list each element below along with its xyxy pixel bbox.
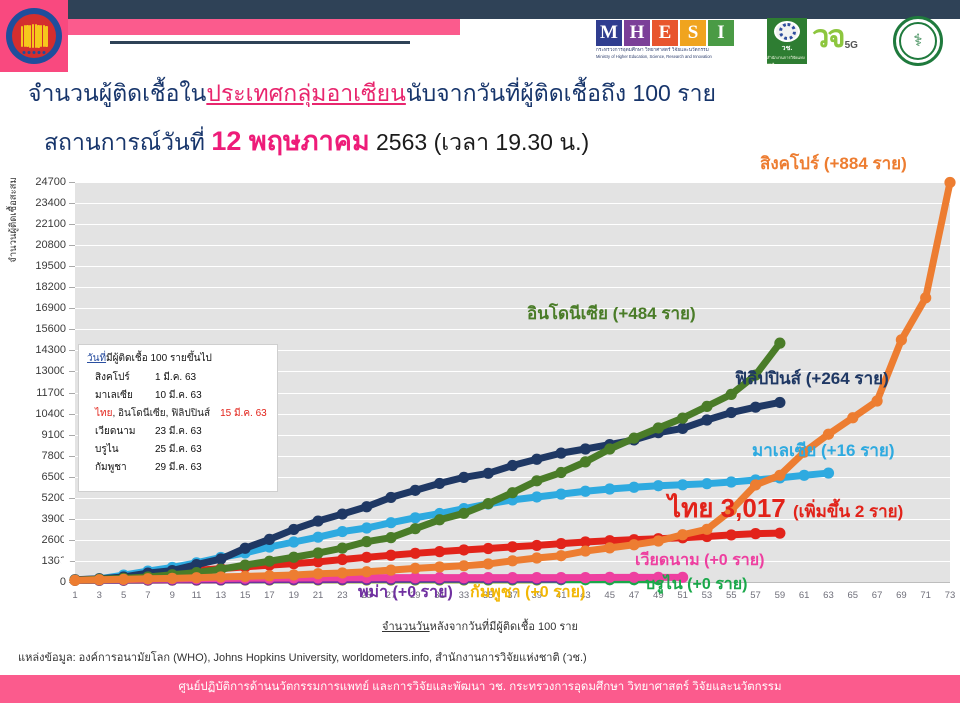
gridline xyxy=(75,266,950,267)
mhesi-subtitle-th: กระทรวงการอุดมศึกษา วิทยาศาสตร์ วิจัยและ… xyxy=(596,47,734,54)
title-part-a: จำนวนผู้ติดเชื้อใน xyxy=(28,80,206,106)
x-tick-label: 23 xyxy=(337,590,348,601)
vijai-5g-badge: 5G xyxy=(845,40,858,51)
series-label-singapore: สิงคโปร์ (+884 ราย) xyxy=(760,150,907,177)
gridline xyxy=(75,540,950,541)
y-tick-label: 1300 xyxy=(0,555,66,567)
legend-country: กัมพูชา xyxy=(87,460,155,475)
title-highlight: ประเทศกลุ่มอาเซียน xyxy=(206,80,406,106)
x-tick-label: 73 xyxy=(945,590,956,601)
legend-row: เวียดนาม23 มี.ค. 63 xyxy=(87,424,269,439)
y-tick-mark xyxy=(69,393,75,394)
y-tick-mark xyxy=(69,287,75,288)
x-tick-label: 9 xyxy=(170,590,175,601)
x-tick-label: 7 xyxy=(145,590,150,601)
x-axis-title-underlined: จำนวนวัน xyxy=(382,621,430,633)
y-tick-label: 0 xyxy=(0,576,66,588)
legend-row: ไทย, อินโดนีเซีย, ฟิลิปปินส์15 มี.ค. 63 xyxy=(87,406,269,421)
x-axis-title: จำนวนวันหลังจากวันที่มีผู้ติดเชื้อ 100 ร… xyxy=(0,617,960,635)
nrct-label: วช. xyxy=(782,43,793,54)
gridline xyxy=(75,287,950,288)
header-pink-bar xyxy=(68,19,460,35)
x-tick-label: 21 xyxy=(313,590,324,601)
x-tick-label: 69 xyxy=(896,590,907,601)
y-tick-mark xyxy=(69,266,75,267)
subtitle-time: (เวลา 19.30 น.) xyxy=(434,129,590,155)
x-tick-label: 71 xyxy=(920,590,931,601)
gridline xyxy=(75,203,950,204)
x-tick-label: 1 xyxy=(72,590,77,601)
legend-date: 1 มี.ค. 63 xyxy=(155,370,196,385)
x-tick-label: 13 xyxy=(216,590,227,601)
gridline xyxy=(75,245,950,246)
y-tick-label: 10400 xyxy=(0,408,66,420)
gridline xyxy=(75,561,950,562)
mhesi-letter-s: S xyxy=(680,20,706,46)
series-label-cambodia: กัมพูชา (+0 ราย) xyxy=(470,580,585,605)
asean-emblem-icon xyxy=(6,8,62,64)
subtitle-date: 12 พฤษภาคม xyxy=(211,126,369,156)
y-tick-mark xyxy=(69,582,75,583)
legend-country: บรูไน xyxy=(87,442,155,457)
y-tick-label: 16900 xyxy=(0,302,66,314)
subtitle-year: 2563 xyxy=(370,129,434,155)
y-tick-label: 15600 xyxy=(0,323,66,335)
x-tick-label: 15 xyxy=(240,590,251,601)
y-tick-mark xyxy=(69,224,75,225)
x-tick-label: 3 xyxy=(97,590,102,601)
y-tick-label: 11700 xyxy=(0,387,66,399)
x-tick-label: 61 xyxy=(799,590,810,601)
nrct-sublabel: สำนักงานการวิจัยแห่งชาติ xyxy=(767,54,807,68)
y-tick-mark xyxy=(69,203,75,204)
y-axis-title: จำนวนผู้ติดเชื้อสะสม xyxy=(6,140,21,300)
legend-country: สิงคโปร์ xyxy=(87,370,155,385)
annotation-arrow-head xyxy=(58,558,72,570)
source-note: แหล่งข้อมูล: องค์การอนามัยโลก (WHO), Joh… xyxy=(18,648,587,666)
x-tick-label: 19 xyxy=(288,590,299,601)
y-tick-mark xyxy=(69,371,75,372)
y-tick-label: 7800 xyxy=(0,450,66,462)
x-tick-label: 47 xyxy=(629,590,640,601)
legend-country: ไทย, อินโดนีเซีย, ฟิลิปปินส์ xyxy=(87,406,220,421)
y-tick-label: 14300 xyxy=(0,344,66,356)
vijai-5g-logo: วจ 5G xyxy=(812,22,858,52)
slide-root: MHESI กระทรวงการอุดมศึกษา วิทยาศาสตร์ วิ… xyxy=(0,0,960,703)
legend-row: สิงคโปร์1 มี.ค. 63 xyxy=(87,370,269,385)
x-tick-label: 45 xyxy=(604,590,615,601)
y-tick-mark xyxy=(69,498,75,499)
legend-country: มาเลเซีย xyxy=(87,388,155,403)
gridline xyxy=(75,329,950,330)
y-tick-mark xyxy=(69,350,75,351)
vijai-glyph: วจ xyxy=(812,22,844,52)
y-tick-mark xyxy=(69,519,75,520)
x-tick-label: 5 xyxy=(121,590,126,601)
y-tick-mark xyxy=(69,308,75,309)
legend-date: 15 มี.ค. 63 xyxy=(220,406,267,421)
mhesi-logo: MHESI กระทรวงการอุดมศึกษา วิทยาศาสตร์ วิ… xyxy=(596,20,734,59)
x-tick-label: 63 xyxy=(823,590,834,601)
legend-row: กัมพูชา29 มี.ค. 63 xyxy=(87,460,269,475)
y-tick-mark xyxy=(69,540,75,541)
mhesi-letter-h: H xyxy=(624,20,650,46)
header-navy-band xyxy=(0,0,960,19)
y-tick-mark xyxy=(69,456,75,457)
x-tick-label: 17 xyxy=(264,590,275,601)
legend-row: มาเลเซีย10 มี.ค. 63 xyxy=(87,388,269,403)
x-tick-label: 11 xyxy=(192,590,202,601)
legend-date: 29 มี.ค. 63 xyxy=(155,460,202,475)
moph-caduceus-icon: ⚕ xyxy=(899,22,937,60)
series-label-indonesia: อินโดนีเซีย (+484 ราย) xyxy=(527,300,696,327)
y-tick-mark xyxy=(69,245,75,246)
thailand-delta: (เพิ่มขึ้น 2 ราย) xyxy=(793,502,903,521)
gridline xyxy=(75,224,950,225)
header-navy-rule xyxy=(110,41,410,44)
moph-logo: ⚕ xyxy=(893,16,943,66)
x-tick-label: 33 xyxy=(459,590,470,601)
x-tick-label: 57 xyxy=(750,590,761,601)
threshold-date-legend: วันที่มีผู้ติดเชื้อ 100 รายขึ้นไป สิงคโป… xyxy=(78,344,278,492)
mhesi-letter-e: E xyxy=(652,20,678,46)
legend-date: 25 มี.ค. 63 xyxy=(155,442,202,457)
y-tick-label: 5200 xyxy=(0,492,66,504)
mhesi-subtitle-en: Ministry of Higher Education, Science, R… xyxy=(596,54,734,59)
legend-heading-rest: มีผู้ติดเชื้อ 100 รายขึ้นไป xyxy=(106,353,212,364)
legend-date: 10 มี.ค. 63 xyxy=(155,388,202,403)
y-tick-label: 13000 xyxy=(0,365,66,377)
legend-heading-underlined: วันที่ xyxy=(87,353,106,364)
x-tick-label: 67 xyxy=(872,590,883,601)
nrct-logo: วช. สำนักงานการวิจัยแห่งชาติ xyxy=(767,18,807,64)
y-tick-mark xyxy=(69,414,75,415)
title-part-b: นับจากวันที่ผู้ติดเชื้อถึง 100 ราย xyxy=(406,80,716,106)
mhesi-letter-i: I xyxy=(708,20,734,46)
y-tick-mark xyxy=(69,182,75,183)
series-label-myanmar: พม่า (+0 ราย) xyxy=(358,580,453,605)
series-label-vietnam: เวียดนาม (+0 ราย) xyxy=(635,548,764,573)
mhesi-letter-m: M xyxy=(596,20,622,46)
page-title-line1: จำนวนผู้ติดเชื้อในประเทศกลุ่มอาเซียนนับจ… xyxy=(28,76,716,112)
series-label-brunei: บรูไน (+0 ราย) xyxy=(645,572,747,597)
gridline xyxy=(75,182,950,183)
legend-date: 23 มี.ค. 63 xyxy=(155,424,202,439)
series-label-philippines: ฟิลิปปินส์ (+264 ราย) xyxy=(735,365,889,392)
x-tick-label: 59 xyxy=(775,590,786,601)
y-tick-mark xyxy=(69,477,75,478)
x-axis-title-rest: หลังจากวันที่มีผู้ติดเชื้อ 100 ราย xyxy=(430,621,578,633)
y-tick-label: 9100 xyxy=(0,429,66,441)
subtitle-prefix: สถานการณ์วันที่ xyxy=(44,129,211,155)
y-tick-label: 6500 xyxy=(0,471,66,483)
legend-heading: วันที่มีผู้ติดเชื้อ 100 รายขึ้นไป xyxy=(87,351,269,366)
annotation-arrow-line xyxy=(64,352,66,564)
page-title-line2: สถานการณ์วันที่ 12 พฤษภาคม 2563 (เวลา 19… xyxy=(44,119,589,162)
gridline xyxy=(75,308,950,309)
y-tick-label: 2600 xyxy=(0,534,66,546)
legend-row: บรูไน25 มี.ค. 63 xyxy=(87,442,269,457)
x-tick-label: 65 xyxy=(847,590,858,601)
series-label-malaysia: มาเลเซีย (+16 ราย) xyxy=(752,437,895,464)
thailand-total: ไทย 3,017 xyxy=(668,493,793,523)
series-label-thailand: ไทย 3,017 (เพิ่มขึ้น 2 ราย) xyxy=(668,488,903,529)
y-tick-label: 3900 xyxy=(0,513,66,525)
y-tick-mark xyxy=(69,435,75,436)
legend-country: เวียดนาม xyxy=(87,424,155,439)
footer-text: ศูนย์ปฏิบัติการด้านนวัตกรรมการแพทย์ และก… xyxy=(0,678,960,696)
y-tick-mark xyxy=(69,329,75,330)
